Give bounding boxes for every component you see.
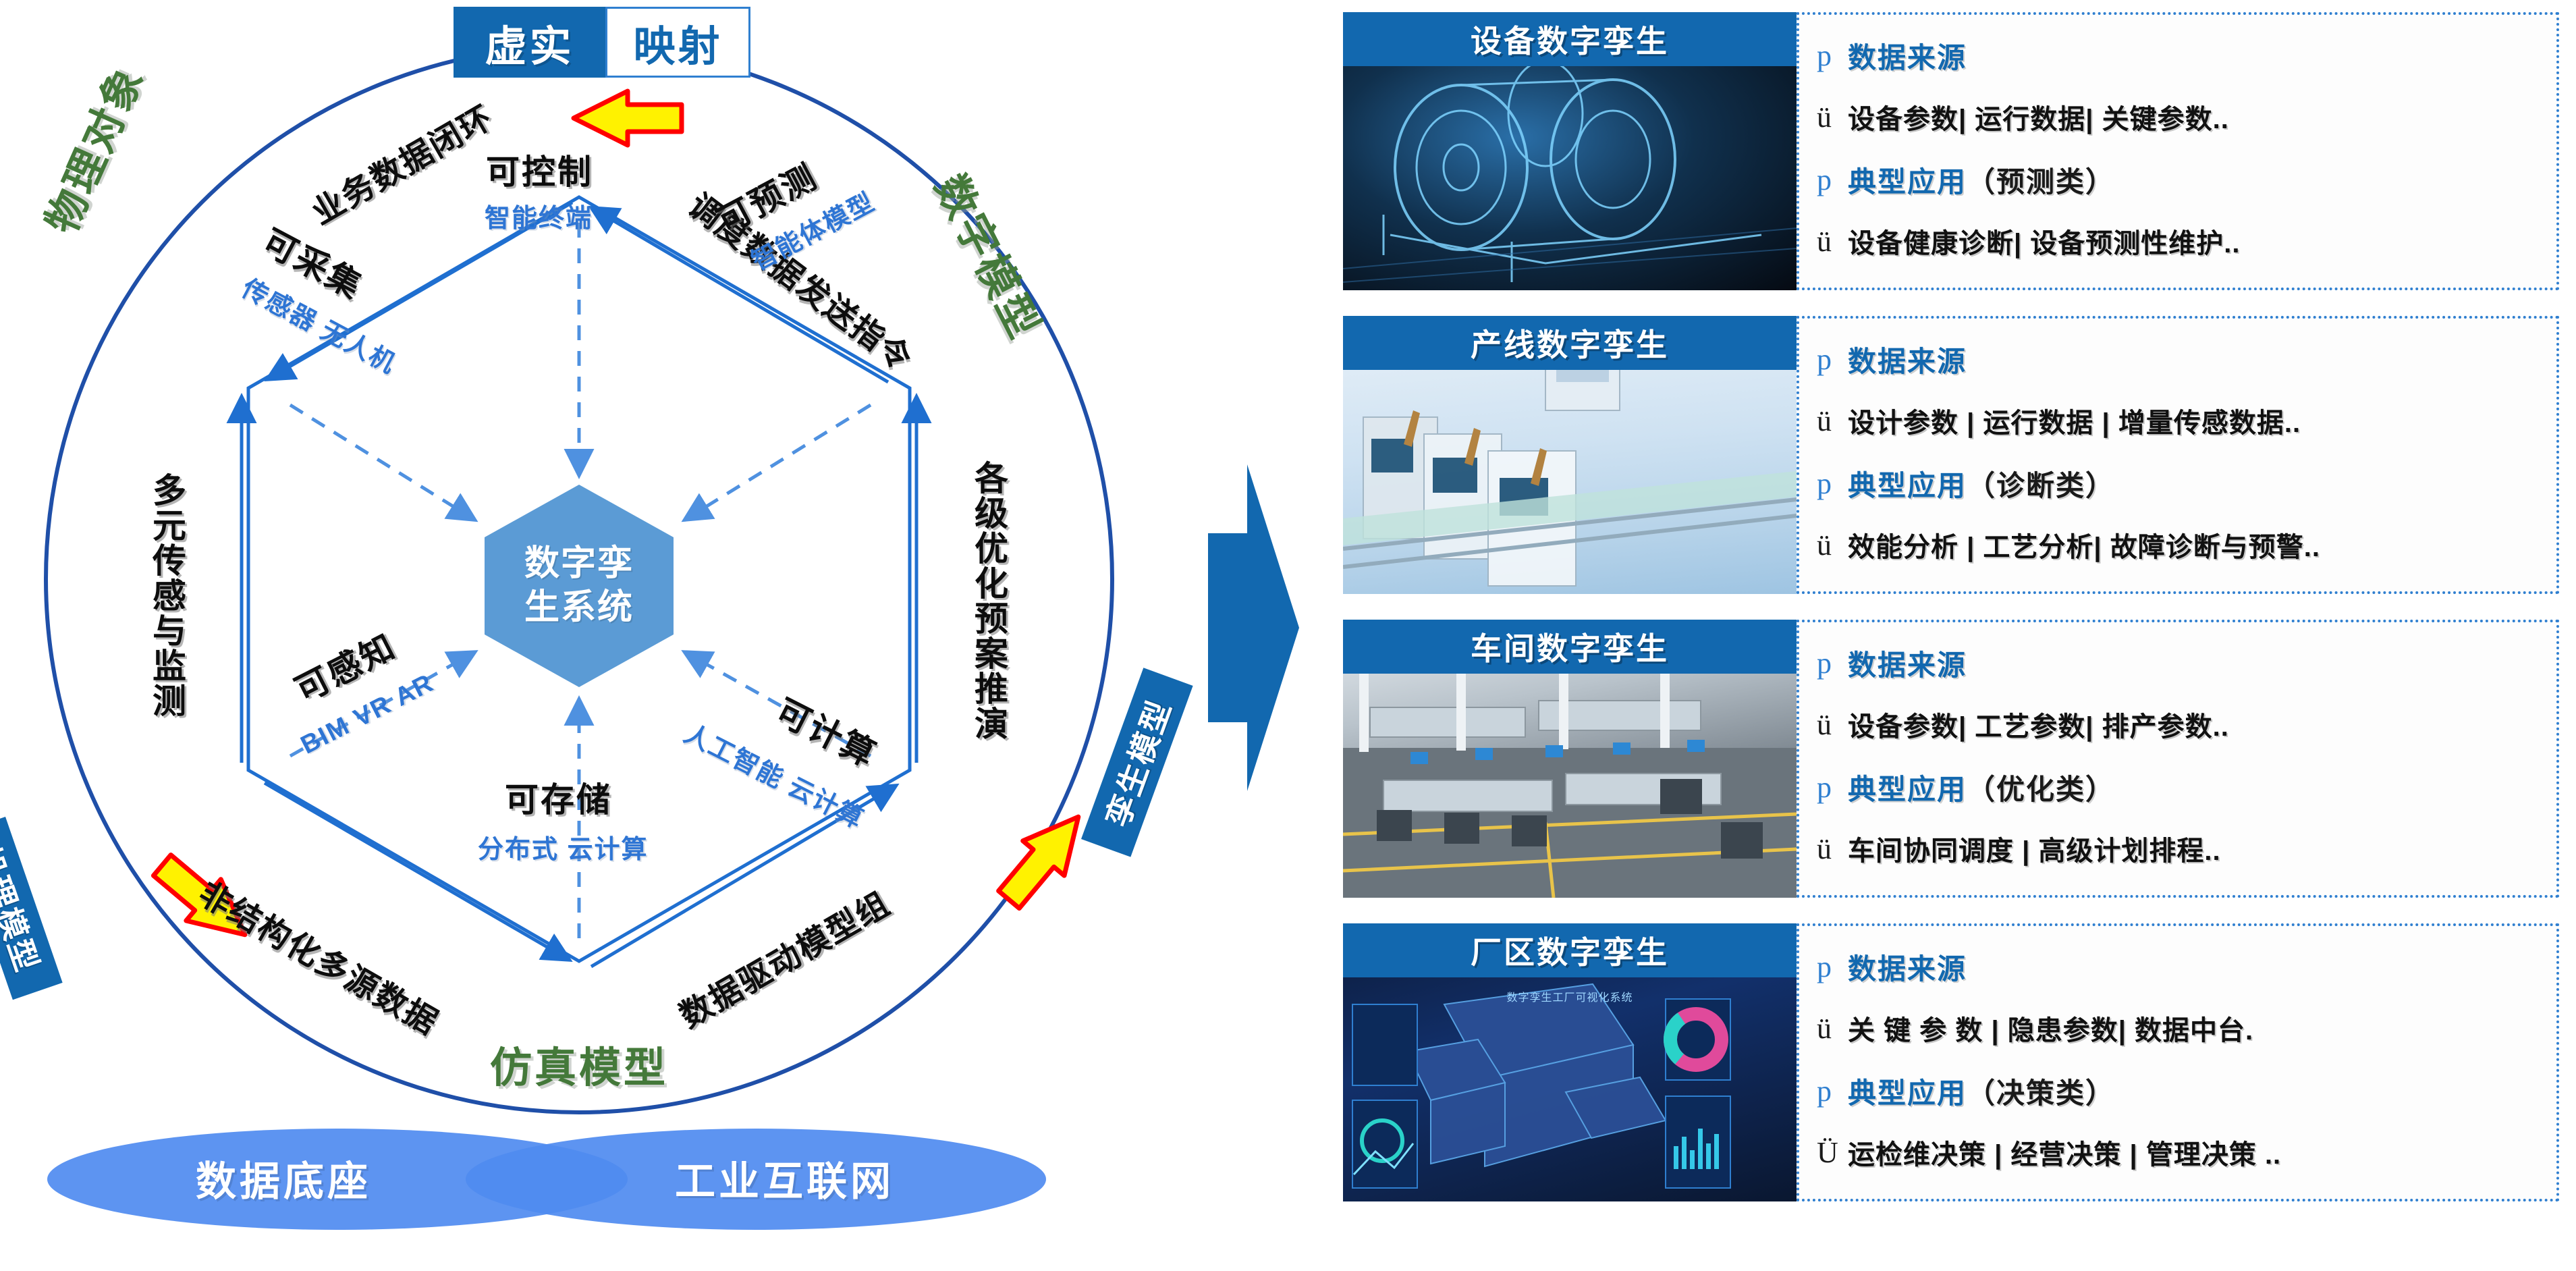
card-title-workshop-label: 车间数字孪生 — [1471, 624, 1669, 669]
big-blue-right-arrow — [1208, 464, 1299, 791]
card-row-item: ü 设备参数| 工艺参数| 排产参数.. — [1817, 705, 2229, 744]
label-industrial-internet: 工业互联网 — [675, 1149, 894, 1208]
check-bullet-icon: ü — [1817, 100, 1848, 134]
digital-twin-cycle-diagram: 虚实 映射 数字孪 生系统 物理对象 数字模型 仿真模型 机理模型 孪生模型 业… — [0, 0, 1323, 1271]
card-row-head: p 典型应用（诊断类） — [1817, 463, 2115, 504]
card-row-head: p 典型应用（预测类） — [1817, 159, 2115, 200]
p-bullet-icon: p — [1817, 950, 1848, 984]
card-title-factory-campus-label: 厂区数字孪生 — [1471, 928, 1669, 973]
card-item-text: 效能分析 | 工艺分析| 故障诊断与预警.. — [1848, 525, 2320, 564]
check-bullet-icon: ü — [1817, 707, 1848, 742]
card-item-text: 设计参数 | 运行数据 | 增量传感数据.. — [1848, 401, 2301, 440]
card-body-production-line: p 数据来源 ü 设计参数 | 运行数据 | 增量传感数据.. p 典型应用（诊… — [1797, 316, 2559, 594]
card-head-text: 数据来源 — [1848, 643, 1967, 684]
card-equipment-digital-twin[interactable]: 设备数字孪生 p 数据来源 ü 设备参数| 运行数据| 关键参数.. p 典型应… — [1323, 7, 2568, 297]
check-bullet-icon: ü — [1817, 832, 1848, 866]
spoke-predictable — [687, 405, 871, 518]
card-item-text: 车间协同调度 | 高级计划排程.. — [1848, 829, 2221, 868]
label-storable-tech: 分布式 云计算 — [478, 837, 649, 863]
card-head-text: 数据来源 — [1848, 35, 1967, 76]
check-bullet-icon: ü — [1817, 528, 1848, 562]
label-controllable-tech: 智能终端 — [485, 206, 593, 232]
card-head-text: 数据来源 — [1848, 946, 1967, 988]
card-item-text: 设备参数| 运行数据| 关键参数.. — [1848, 97, 2229, 136]
p-bullet-icon: p — [1817, 1074, 1848, 1108]
label-storable: 可存储 — [505, 783, 612, 817]
card-body-equipment: p 数据来源 ü 设备参数| 运行数据| 关键参数.. p 典型应用（预测类） … — [1797, 12, 2559, 290]
card-item-text: 设备健康诊断| 设备预测性维护.. — [1848, 221, 2241, 261]
card-row-item: ü 设备参数| 运行数据| 关键参数.. — [1817, 97, 2229, 136]
box-mapping-label: 映射 — [633, 12, 722, 73]
card-row-item: ü 关 键 参 数 | 隐患参数| 数据中台. — [1817, 1008, 2253, 1048]
card-head-text: 数据来源 — [1848, 339, 1967, 380]
card-title-production-line-label: 产线数字孪生 — [1471, 321, 1669, 365]
card-title-factory-campus: 厂区数字孪生 — [1343, 923, 1797, 977]
card-workshop-digital-twin[interactable]: 车间数字孪生 p 数据来源 ü 设备参数| 工艺参数| 排产参数.. p 典型应… — [1323, 614, 2568, 904]
p-bullet-icon: p — [1817, 38, 1848, 73]
label-simulation-model: 仿真模型 — [490, 1048, 668, 1089]
card-row-item: ü 效能分析 | 工艺分析| 故障诊断与预警.. — [1817, 525, 2320, 564]
card-body-factory-campus: p 数据来源 ü 关 键 参 数 | 隐患参数| 数据中台. p 典型应用（决策… — [1797, 923, 2559, 1201]
card-head-text: 典型应用（预测类） — [1848, 159, 2115, 200]
label-data-foundation: 数据底座 — [196, 1149, 371, 1208]
card-row-item: Ü 运检维决策 | 经营决策 | 管理决策 .. — [1817, 1133, 2281, 1172]
box-virtual-real-label: 虚实 — [485, 12, 574, 73]
box-virtual-real[interactable]: 虚实 — [454, 7, 605, 78]
card-title-workshop: 车间数字孪生 — [1343, 620, 1797, 674]
card-row-head: p 数据来源 — [1817, 946, 1967, 988]
card-row-head: p 数据来源 — [1817, 339, 1967, 380]
yellow-arrow-top — [574, 91, 682, 145]
card-row-item: ü 车间协同调度 | 高级计划排程.. — [1817, 829, 2221, 868]
check-bullet-icon: ü — [1817, 404, 1848, 438]
check-bullet-icon: Ü — [1817, 1135, 1848, 1170]
card-row-head: p 数据来源 — [1817, 35, 1967, 76]
card-row-head: p 数据来源 — [1817, 643, 1967, 684]
card-row-head: p 典型应用（决策类） — [1817, 1071, 2115, 1112]
card-title-equipment-label: 设备数字孪生 — [1471, 17, 1669, 61]
card-row-head: p 典型应用（优化类） — [1817, 767, 2115, 808]
card-body-workshop: p 数据来源 ü 设备参数| 工艺参数| 排产参数.. p 典型应用（优化类） … — [1797, 620, 2559, 898]
p-bullet-icon: p — [1817, 466, 1848, 501]
card-title-production-line: 产线数字孪生 — [1343, 316, 1797, 370]
label-controllable: 可控制 — [486, 155, 593, 189]
hexagon-line-1: 数字孪 — [524, 542, 634, 586]
card-head-text: 典型应用（决策类） — [1848, 1071, 2115, 1112]
check-bullet-icon: ü — [1817, 224, 1848, 259]
card-production-line-digital-twin[interactable]: 产线数字孪生 p 数据来源 ü 设计参数 | 运行数据 | 增量传感数据.. p… — [1323, 310, 2568, 601]
card-item-text: 关 键 参 数 | 隐患参数| 数据中台. — [1848, 1008, 2253, 1048]
label-multi-sensing-monitoring: 多元传感与监测 — [150, 472, 184, 718]
thumb-caption-factory: 数字孪生工厂可视化系统 — [1343, 988, 1797, 1004]
p-bullet-icon: p — [1817, 770, 1848, 805]
box-mapping[interactable]: 映射 — [605, 7, 750, 78]
card-item-text: 设备参数| 工艺参数| 排产参数.. — [1848, 705, 2229, 744]
card-title-equipment: 设备数字孪生 — [1343, 12, 1797, 66]
card-head-text: 典型应用（优化类） — [1848, 767, 2115, 808]
card-item-text: 运检维决策 | 经营决策 | 管理决策 .. — [1848, 1133, 2281, 1172]
p-bullet-icon: p — [1817, 342, 1848, 377]
p-bullet-icon: p — [1817, 163, 1848, 197]
digital-twin-card-list: 设备数字孪生 p 数据来源 ü 设备参数| 运行数据| 关键参数.. p 典型应… — [1323, 0, 2576, 1271]
p-bullet-icon: p — [1817, 646, 1848, 680]
label-multilevel-optimization-plan: 各级优化预案推演 — [972, 460, 1006, 741]
card-factory-campus-digital-twin[interactable]: 数字孪生工厂可视化系统 厂区数字孪生 p 数据来源 ü 关 键 参 数 | 隐患… — [1323, 918, 2568, 1208]
card-row-item: ü 设计参数 | 运行数据 | 增量传感数据.. — [1817, 401, 2301, 440]
check-bullet-icon: ü — [1817, 1011, 1848, 1046]
spoke-collectable — [290, 405, 472, 518]
hexagon-line-2: 生系统 — [524, 586, 634, 630]
card-head-text: 典型应用（诊断类） — [1848, 463, 2115, 504]
card-row-item: ü 设备健康诊断| 设备预测性维护.. — [1817, 221, 2241, 261]
